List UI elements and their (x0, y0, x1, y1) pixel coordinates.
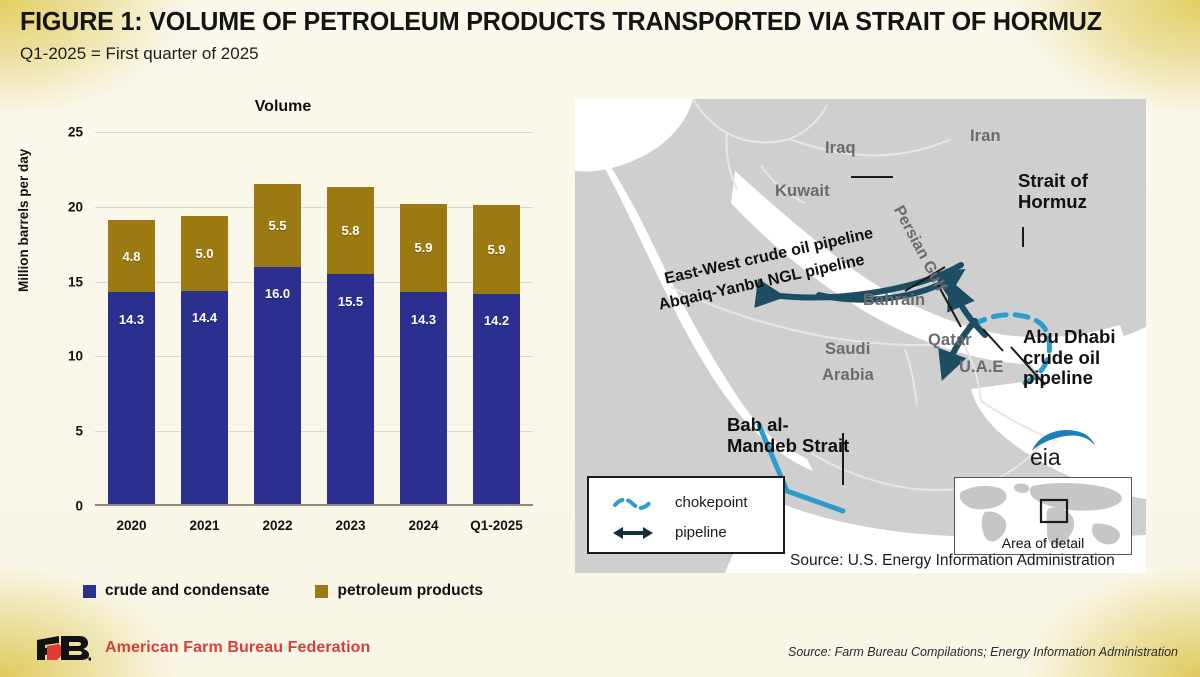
map-legend: chokepoint pipeline (587, 476, 785, 554)
bar-segment: 5.9 (473, 205, 520, 293)
pipeline-icon (611, 525, 655, 541)
map-country-label: Iraq (825, 139, 856, 158)
bar-value-label: 5.5 (268, 218, 286, 233)
bar-segment: 5.9 (400, 204, 447, 292)
bar-column: 5.815.5 (327, 187, 374, 506)
bar-value-label: 5.9 (414, 240, 432, 255)
gridline (95, 132, 533, 133)
map-country-label: Qatar (928, 331, 972, 350)
bar-segment: 14.3 (400, 292, 447, 506)
bar-value-label: 14.3 (411, 312, 436, 327)
bar-segment: 14.2 (473, 294, 520, 506)
gridline (95, 282, 533, 283)
bar-segment: 16.0 (254, 267, 301, 506)
bar-value-label: 4.8 (122, 249, 140, 264)
map-country-label: U.A.E (959, 358, 1004, 377)
chart-legend: crude and condensatepetroleum products (0, 582, 566, 600)
map-legend-pipeline: pipeline (611, 524, 727, 541)
bar-segment: 14.4 (181, 291, 228, 506)
inset-label: Area of detail (955, 535, 1131, 551)
gridline (95, 356, 533, 357)
bar-value-label: 15.5 (338, 294, 363, 309)
x-axis-tick: Q1-2025 (470, 518, 523, 533)
y-axis-tick: 15 (68, 274, 83, 289)
bar-value-label: 16.0 (265, 286, 290, 301)
y-axis-tick: 20 (68, 199, 83, 214)
bar-segment: 15.5 (327, 274, 374, 506)
legend-label: crude and condensate (105, 582, 270, 600)
x-axis-tick: 2020 (116, 518, 146, 533)
bar-column: 4.814.3 (108, 220, 155, 506)
label-abu-dhabi-pipeline: Abu Dhabi crude oil pipeline (1023, 327, 1116, 389)
bar-column: 5.014.4 (181, 216, 228, 506)
inset-world-map: Area of detail (954, 477, 1132, 555)
label-bab-al-mandeb-strait: Bab al- Mandeb Strait (727, 415, 849, 456)
footer-source-text: Source: Farm Bureau Compilations; Energy… (788, 645, 1178, 659)
legend-label: petroleum products (337, 582, 483, 600)
page-title: FIGURE 1: VOLUME OF PETROLEUM PRODUCTS T… (20, 8, 1167, 37)
farm-bureau-logo-icon (35, 634, 91, 662)
footer-logo: American Farm Bureau Federation (35, 634, 370, 662)
chart-title: Volume (0, 98, 566, 116)
eia-logo: eia (1024, 425, 1098, 469)
bar-value-label: 5.9 (487, 242, 505, 257)
map-country-label: Arabia (822, 366, 874, 385)
bar-segment: 5.5 (254, 184, 301, 266)
bar-value-label: 5.0 (195, 246, 213, 261)
x-axis-line (95, 504, 533, 506)
x-axis-tick: 2023 (335, 518, 365, 533)
y-axis-label: Million barrels per day (16, 149, 31, 292)
page-subtitle: Q1-2025 = First quarter of 2025 (20, 44, 1184, 64)
y-axis-tick: 0 (75, 499, 83, 514)
y-axis-tick: 10 (68, 349, 83, 364)
map-panel: IraqIranKuwaitBahrainQatarU.A.ESaudiArab… (575, 99, 1146, 573)
label-strait-of-hormuz: Strait of Hormuz (1018, 171, 1088, 212)
bar-value-label: 14.3 (119, 312, 144, 327)
bar-value-label: 5.8 (341, 223, 359, 238)
footer-org-name: American Farm Bureau Federation (105, 639, 370, 657)
chokepoint-icon (611, 495, 655, 511)
gridline (95, 431, 533, 432)
map-source-text: Source: U.S. Energy Information Administ… (790, 552, 1115, 570)
bar-segment: 5.0 (181, 216, 228, 291)
chart-plot-area: 0510152025 4.814.320205.014.420215.516.0… (95, 132, 533, 506)
bar-segment: 14.3 (108, 292, 155, 506)
map-country-label: Iran (970, 127, 1001, 146)
bar-segment: 4.8 (108, 220, 155, 292)
y-axis-tick: 5 (75, 424, 83, 439)
bar-value-label: 14.2 (484, 313, 509, 328)
x-axis-tick: 2024 (408, 518, 438, 533)
y-axis-tick: 25 (68, 125, 83, 140)
legend-item: crude and condensate (83, 582, 270, 600)
svg-text:eia: eia (1030, 444, 1061, 469)
legend-swatch (83, 585, 96, 598)
header: FIGURE 1: VOLUME OF PETROLEUM PRODUCTS T… (20, 8, 1184, 64)
bar-chart: Volume Million barrels per day 051015202… (0, 96, 566, 556)
bar-value-label: 14.4 (192, 310, 217, 325)
map-country-label: Saudi (825, 340, 870, 359)
bar-segment: 5.8 (327, 187, 374, 274)
x-axis-tick: 2021 (189, 518, 219, 533)
map-legend-pipeline-label: pipeline (675, 524, 727, 541)
bar-column: 5.914.3 (400, 204, 447, 506)
legend-item: petroleum products (315, 582, 483, 600)
map-country-label: Bahrain (863, 291, 925, 310)
x-axis-tick: 2022 (262, 518, 292, 533)
bar-column: 5.914.2 (473, 205, 520, 506)
bar-column: 5.516.0 (254, 184, 301, 506)
map-legend-chokepoint: chokepoint (611, 494, 748, 511)
legend-swatch (315, 585, 328, 598)
map-country-label: Kuwait (775, 182, 830, 201)
gridline (95, 207, 533, 208)
map-legend-chokepoint-label: chokepoint (675, 494, 748, 511)
